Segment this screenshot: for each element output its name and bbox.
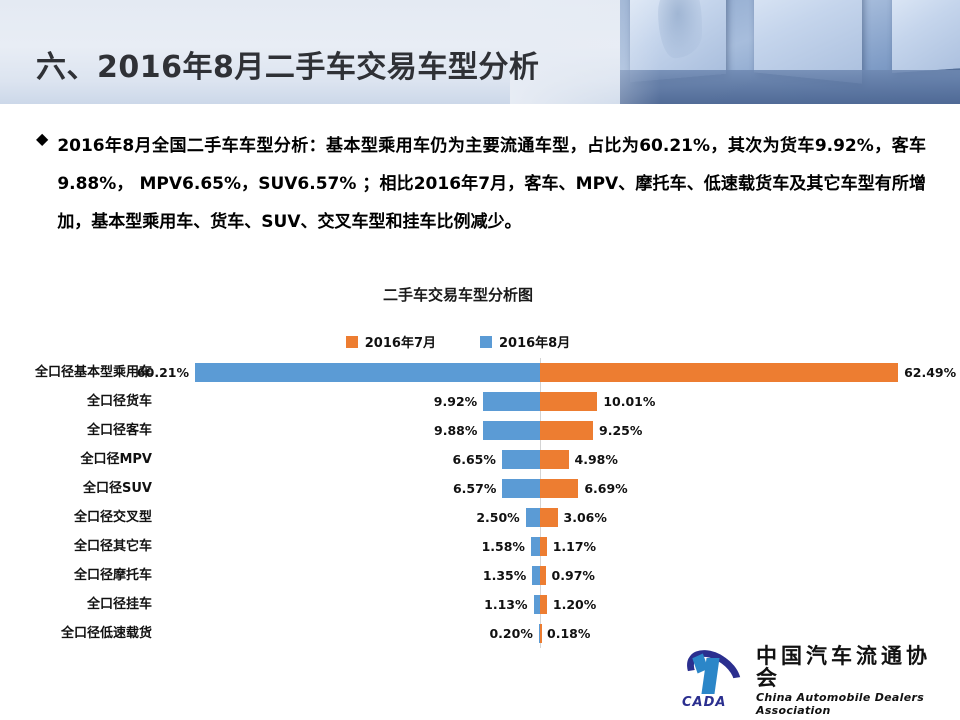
chart-value-july: 1.17% — [553, 532, 596, 561]
chart-category-label: 全口径其它车 — [0, 532, 152, 561]
chart-value-august: 2.50% — [476, 503, 519, 532]
chart-category-label: 全口径MPV — [0, 445, 152, 474]
chart-plot-area: 全口径基本型乘用车60.21%62.49%全口径货车9.92%10.01%全口径… — [0, 358, 960, 650]
chart-category-label: 全口径基本型乘用车 — [0, 358, 152, 387]
legend-item-july[interactable]: 2016年7月 — [346, 332, 436, 351]
chart-bar-july[interactable] — [540, 450, 569, 469]
chart-category-label: 全口径客车 — [0, 416, 152, 445]
logo-name-cn: 中国汽车流通协会 — [756, 645, 946, 689]
summary-paragraph: 2016年8月全国二手车车型分析：基本型乘用车仍为主要流通车型，占比为60.21… — [57, 127, 926, 241]
legend-label-august: 2016年8月 — [499, 332, 570, 351]
chart-value-july: 6.69% — [584, 474, 627, 503]
chart-row: 全口径客车9.88%9.25% — [0, 416, 960, 445]
chart-bar-august[interactable] — [502, 450, 540, 469]
chart-legend: 2016年7月 2016年8月 — [0, 332, 938, 351]
chart-bar-august[interactable] — [483, 392, 540, 411]
chart-row: 全口径摩托车1.35%0.97% — [0, 561, 960, 590]
legend-label-july: 2016年7月 — [365, 332, 436, 351]
chart-bar-august[interactable] — [534, 595, 540, 614]
diamond-bullet-icon: ◆ — [36, 131, 48, 147]
chart-value-july: 0.97% — [552, 561, 595, 590]
chart-row: 全口径交叉型2.50%3.06% — [0, 503, 960, 532]
chart-value-august: 6.57% — [453, 474, 496, 503]
chart-row: 全口径挂车1.13%1.20% — [0, 590, 960, 619]
chart-category-label: 全口径SUV — [0, 474, 152, 503]
chart-bar-july[interactable] — [540, 508, 558, 527]
chart-value-july: 62.49% — [904, 358, 956, 387]
chart-row: 全口径基本型乘用车60.21%62.49% — [0, 358, 960, 387]
chart-value-august: 1.58% — [482, 532, 525, 561]
cada-emblem-icon: CADA — [678, 652, 752, 710]
chart-category-label: 全口径挂车 — [0, 590, 152, 619]
chart-bar-august[interactable] — [531, 537, 540, 556]
chart-bar-august[interactable] — [483, 421, 540, 440]
logo-abbr: CADA — [682, 695, 726, 710]
summary-block: ◆ 2016年8月全国二手车车型分析：基本型乘用车仍为主要流通车型，占比为60.… — [36, 127, 926, 241]
chart-value-august: 6.65% — [453, 445, 496, 474]
chart-category-label: 全口径交叉型 — [0, 503, 152, 532]
chart-row: 全口径SUV6.57%6.69% — [0, 474, 960, 503]
chart-value-july: 9.25% — [599, 416, 642, 445]
chart-value-august: 1.13% — [484, 590, 527, 619]
chart-bar-july[interactable] — [540, 624, 542, 643]
chart-value-august: 9.88% — [434, 416, 477, 445]
chart-bar-july[interactable] — [540, 537, 547, 556]
chart-bar-august[interactable] — [502, 479, 540, 498]
chart-bar-august[interactable] — [526, 508, 540, 527]
chart-row: 全口径货车9.92%10.01% — [0, 387, 960, 416]
legend-swatch-july — [346, 336, 358, 348]
chart-bar-july[interactable] — [540, 421, 593, 440]
legend-item-august[interactable]: 2016年8月 — [480, 332, 570, 351]
chart-bar-july[interactable] — [540, 363, 898, 382]
chart-category-label: 全口径低速载货 — [0, 619, 152, 648]
chart-bar-july[interactable] — [540, 566, 546, 585]
chart-value-august: 9.92% — [434, 387, 477, 416]
chart-value-august: 60.21% — [137, 358, 189, 387]
chart-bar-august[interactable] — [532, 566, 540, 585]
chart-category-label: 全口径摩托车 — [0, 561, 152, 590]
chart-value-july: 1.20% — [553, 590, 596, 619]
chart-container: 二手车交易车型分析图 2016年7月 2016年8月 全口径基本型乘用车60.2… — [0, 284, 960, 650]
chart-value-july: 0.18% — [547, 619, 590, 648]
chart-row: 全口径MPV6.65%4.98% — [0, 445, 960, 474]
chart-value-july: 10.01% — [603, 387, 655, 416]
legend-swatch-august — [480, 336, 492, 348]
slide-header: 六、2016年8月二手车交易车型分析 — [0, 0, 960, 104]
chart-value-july: 3.06% — [564, 503, 607, 532]
cada-logo: CADA 中国汽车流通协会 China Automobile Dealers A… — [678, 650, 946, 712]
chart-value-july: 4.98% — [575, 445, 618, 474]
chart-bar-july[interactable] — [540, 479, 578, 498]
chart-bar-july[interactable] — [540, 595, 547, 614]
page-title: 六、2016年8月二手车交易车型分析 — [36, 42, 539, 86]
chart-value-august: 0.20% — [489, 619, 532, 648]
chart-value-august: 1.35% — [483, 561, 526, 590]
chart-bar-august[interactable] — [195, 363, 540, 382]
chart-title: 二手车交易车型分析图 — [0, 284, 938, 305]
header-decor-cubes-icon — [620, 0, 960, 104]
chart-row: 全口径其它车1.58%1.17% — [0, 532, 960, 561]
chart-category-label: 全口径货车 — [0, 387, 152, 416]
chart-bar-july[interactable] — [540, 392, 597, 411]
logo-name-en: China Automobile Dealers Association — [756, 691, 946, 717]
